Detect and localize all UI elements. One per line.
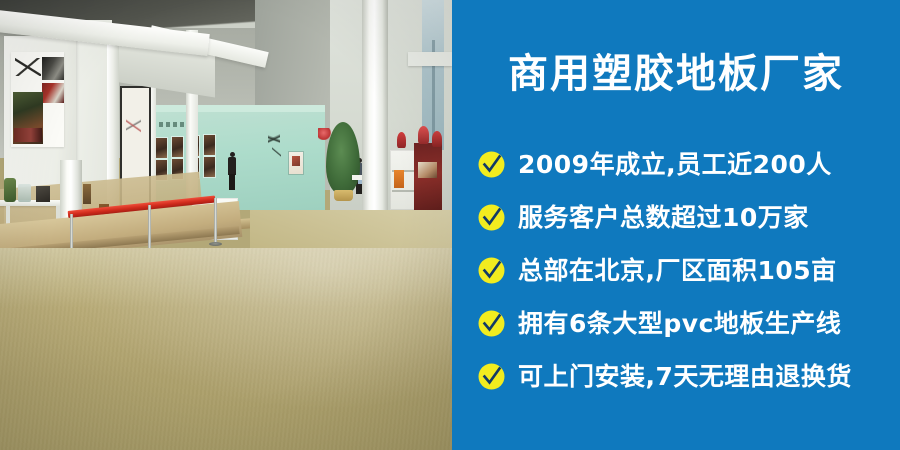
glass-object (18, 184, 31, 202)
list-item-label: 可上门安装,7天无理由退换货 (518, 364, 852, 389)
info-panel: 商用塑胶地板厂家 2009年成立,员工近200人 (452, 0, 900, 450)
check-circle-icon (478, 310, 505, 337)
list-item: 服务客户总数超过10万家 (478, 191, 890, 244)
promo-banner: 商用塑胶地板厂家 2009年成立,员工近200人 (0, 0, 900, 450)
showroom-photo (0, 0, 452, 450)
poster-calligraphy (15, 58, 41, 76)
wall-calligraphy-2 (272, 140, 281, 162)
barrier-post (148, 205, 151, 253)
wall-photo-cell (156, 138, 167, 158)
red-vase-2 (418, 126, 429, 144)
list-item: 总部在北京,厂区面积105亩 (478, 244, 890, 297)
ikebana-plant (4, 178, 16, 202)
barrier-post (214, 198, 217, 244)
poster-thumbnail-4 (14, 128, 42, 142)
wall-photo-cell (204, 135, 215, 155)
window-sill (408, 52, 452, 66)
artwork-ink-detail (126, 94, 141, 154)
check-circle-icon (478, 151, 505, 178)
barrier-post-base (209, 242, 222, 246)
wall-photo-cell (204, 157, 215, 177)
tree-planter (334, 190, 353, 201)
red-vase-1 (397, 132, 406, 148)
check-circle-icon (478, 257, 505, 284)
list-item-label: 2009年成立,员工近200人 (518, 152, 832, 177)
red-vase-3 (432, 131, 442, 147)
check-circle-icon (478, 204, 505, 231)
list-item-label: 服务客户总数超过10万家 (518, 205, 809, 230)
list-item-label: 拥有6条大型pvc地板生产线 (518, 311, 841, 336)
trophy-object (83, 184, 91, 204)
list-item: 2009年成立,员工近200人 (478, 138, 890, 191)
display-shelf-red (414, 143, 442, 215)
dark-exhibit-item (36, 186, 50, 202)
list-item-label: 总部在北京,厂区面积105亩 (518, 258, 837, 283)
poster-thumbnail-1 (42, 57, 64, 80)
wall-photo-cell (172, 137, 183, 157)
visitor-person-1 (228, 152, 236, 190)
flower-arrangement (318, 128, 332, 140)
feature-list: 2009年成立,员工近200人 服务客户总数超过10万家 (478, 138, 890, 403)
check-circle-icon (478, 363, 505, 390)
list-item: 拥有6条大型pvc地板生产线 (478, 297, 890, 350)
shelf-merchandise (418, 162, 437, 178)
wall-poster (289, 152, 303, 174)
floor-texture (0, 248, 452, 450)
list-item: 可上门安装,7天无理由退换货 (478, 350, 890, 403)
poster-thumbnail-2 (42, 83, 64, 103)
column-main (362, 0, 388, 211)
page-title: 商用塑胶地板厂家 (452, 54, 900, 94)
orange-display-item (394, 170, 404, 188)
